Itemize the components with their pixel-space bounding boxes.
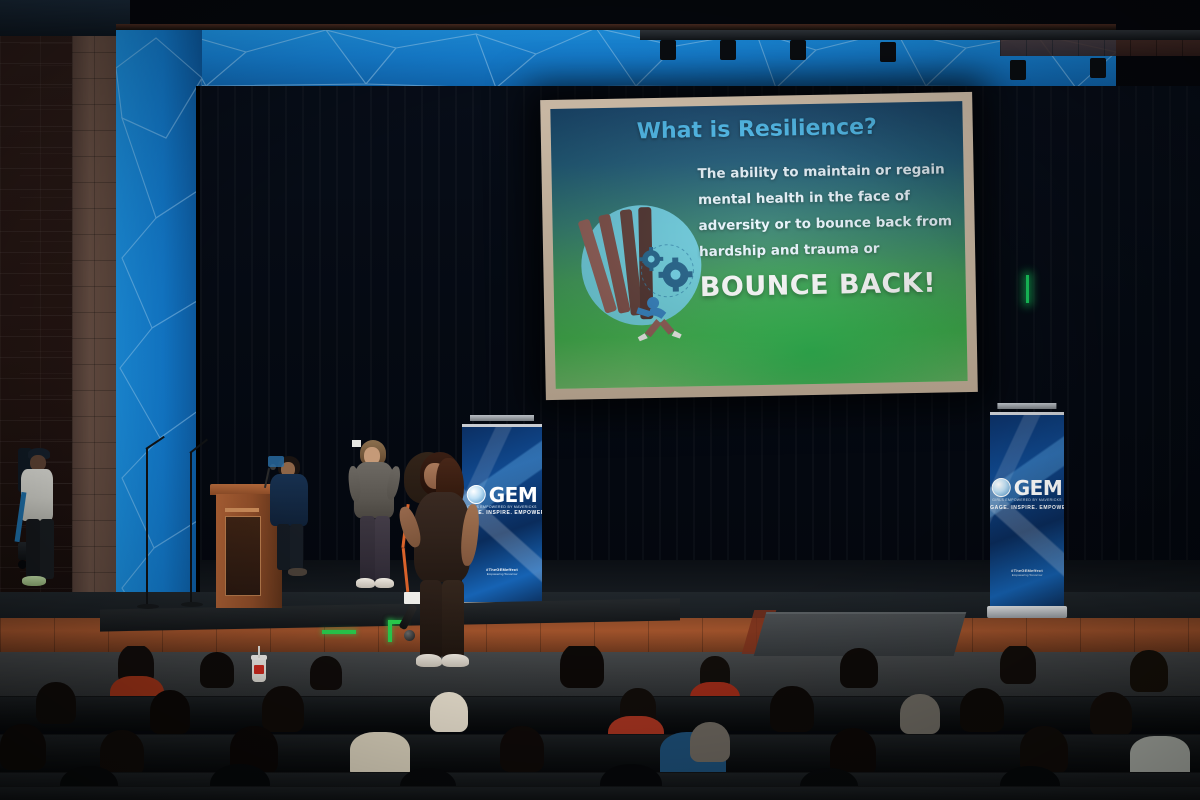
tile-column <box>72 0 116 640</box>
audience-head <box>560 646 604 688</box>
shoe <box>356 578 375 588</box>
audience-head <box>310 656 342 690</box>
gem-logo: GEM <box>992 478 1062 498</box>
gem-subtitle: GIRLS EMPOWERED BY MAVERICKS <box>992 498 1062 502</box>
globe-icon <box>992 478 1011 497</box>
cup-straw <box>258 646 260 658</box>
banner-pole <box>470 415 534 421</box>
gem-wordmark: GEM <box>1014 478 1062 498</box>
shirt-graphic <box>268 456 284 467</box>
screen-frame: What is Resilience? <box>540 92 978 400</box>
projection-screen: What is Resilience? <box>540 92 978 400</box>
seated-audience <box>0 646 1200 800</box>
shoe <box>375 578 394 588</box>
slide-line: The ability to maintain or regain <box>697 157 967 188</box>
audience-head <box>1000 646 1036 684</box>
torso <box>270 474 308 526</box>
cup-logo-icon <box>254 665 264 674</box>
banner-footer-sub: Empowering Tomorrow <box>1011 573 1043 577</box>
audience-head <box>430 692 468 732</box>
banner-footer: #TheGEMeffect Empowering Tomorrow <box>486 567 518 576</box>
auditorium-photo: What is Resilience? <box>0 0 1200 800</box>
presentation-slide: What is Resilience? <box>550 101 967 389</box>
person-behind-podium <box>268 456 310 580</box>
gem-wordmark: GEM <box>489 485 537 505</box>
slide-line: hardship and trauma or <box>699 235 968 266</box>
audience-head <box>262 686 304 732</box>
name-badge <box>352 440 361 447</box>
slide-body: The ability to maintain or regain mental… <box>697 157 967 303</box>
audience-body <box>350 732 410 776</box>
banner-footer-sub: Empowering Tomorrow <box>486 572 518 576</box>
shoe <box>288 568 307 576</box>
gem-banner-right: GEM GIRLS EMPOWERED BY MAVERICKS ENGAGE.… <box>990 412 1064 608</box>
microphone-head-icon <box>404 630 415 641</box>
audience-head <box>770 686 814 732</box>
stage-light-icon <box>720 40 736 60</box>
stage-light-icon <box>880 42 896 62</box>
slide-title: What is Resilience? <box>636 115 877 145</box>
banner-base <box>987 606 1067 618</box>
audience-head <box>900 694 940 734</box>
leg <box>40 519 54 579</box>
audience-head <box>960 688 1004 732</box>
gem-tagline: ENGAGE. INSPIRE. EMPOWER. <box>990 505 1064 511</box>
banner-pole <box>997 403 1056 409</box>
stage-light-icon <box>790 40 806 60</box>
audience-head <box>0 724 46 770</box>
stage-light-icon <box>1010 60 1026 80</box>
videographer-with-camera <box>18 448 66 608</box>
slide-punchline: BOUNCE BACK! <box>699 267 967 303</box>
audience-head <box>200 652 234 688</box>
floor-tape-mark <box>322 630 356 634</box>
lighting-truss <box>640 30 1200 40</box>
resilience-graphic-icon <box>574 198 709 351</box>
audience-head <box>150 690 190 734</box>
leg <box>360 516 375 582</box>
leg <box>375 516 390 582</box>
podium-inset-panel <box>225 516 261 596</box>
podium-plate <box>225 508 259 512</box>
audience-head <box>36 682 76 724</box>
co-presenter-standing <box>352 440 404 610</box>
ceiling <box>0 0 130 36</box>
drink-cup <box>252 658 266 682</box>
audience-head <box>1090 692 1132 736</box>
leg <box>26 519 40 579</box>
seat-row <box>0 786 1200 800</box>
stage-light-icon <box>660 40 676 60</box>
banner-panel: GEM GIRLS EMPOWERED BY MAVERICKS ENGAGE.… <box>990 412 1064 611</box>
audience-head <box>1130 650 1168 692</box>
leg <box>277 524 290 570</box>
leg <box>290 524 303 570</box>
stage-light-icon <box>1090 58 1106 78</box>
audience-head <box>840 648 878 688</box>
audience-head <box>690 722 730 762</box>
green-indicator-light <box>1026 275 1029 303</box>
slide-line: adversity or to bounce back from <box>698 209 967 240</box>
shoe <box>22 576 46 586</box>
audience-head <box>500 726 544 772</box>
banner-footer: #TheGEMeffect Empowering Tomorrow <box>1011 568 1043 577</box>
